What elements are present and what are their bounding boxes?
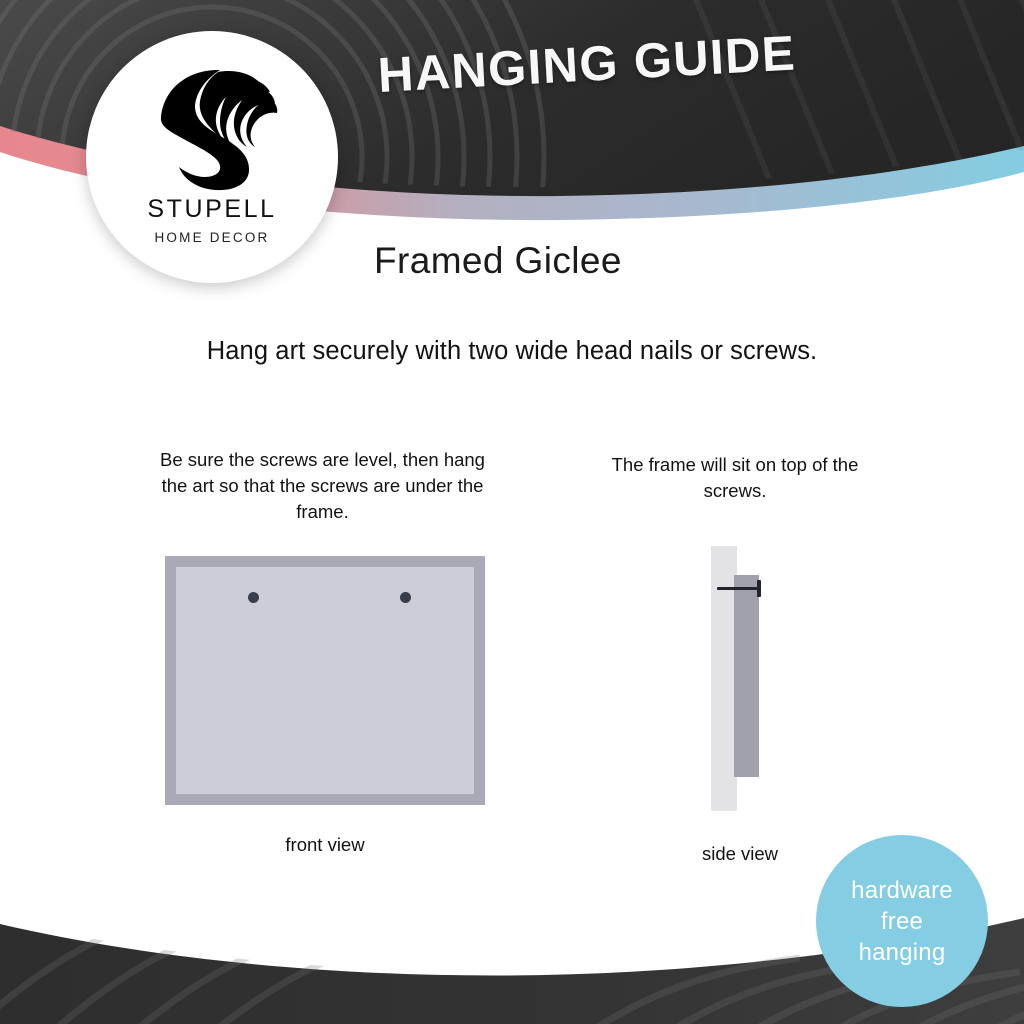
front-view-caption: Be sure the screws are level, then hang …	[145, 447, 500, 525]
logo-wordmark: STUPELL	[147, 197, 276, 222]
badge-line-3: hanging	[859, 937, 946, 968]
hanging-guide-page: STUPELL HOME DECOR HANGING GUIDE Framed …	[0, 0, 1024, 1024]
stupell-swoosh-icon	[146, 63, 278, 191]
side-view-caption: The frame will sit on top of the screws.	[590, 452, 880, 504]
front-view-label: front view	[165, 834, 485, 856]
product-name: Framed Giclee	[374, 240, 622, 282]
badge-line-2: free	[881, 906, 923, 937]
logo-tagline: HOME DECOR	[154, 231, 269, 245]
page-title: HANGING GUIDE	[376, 25, 797, 104]
nail-shaft-icon	[717, 587, 760, 590]
stupell-logo-badge: STUPELL HOME DECOR	[86, 31, 338, 283]
frame-strip	[734, 575, 759, 777]
front-view-frame-diagram	[165, 556, 485, 805]
hardware-free-badge: hardware free hanging	[816, 835, 988, 1007]
screw-dot-left	[248, 592, 259, 603]
nail-head-icon	[757, 580, 761, 597]
side-view-diagram	[700, 546, 780, 811]
lead-instruction: Hang art securely with two wide head nai…	[0, 337, 1024, 366]
screw-dot-right	[400, 592, 411, 603]
frame-mat	[176, 567, 474, 794]
badge-line-1: hardware	[851, 875, 953, 906]
side-view-label: side view	[640, 843, 840, 865]
